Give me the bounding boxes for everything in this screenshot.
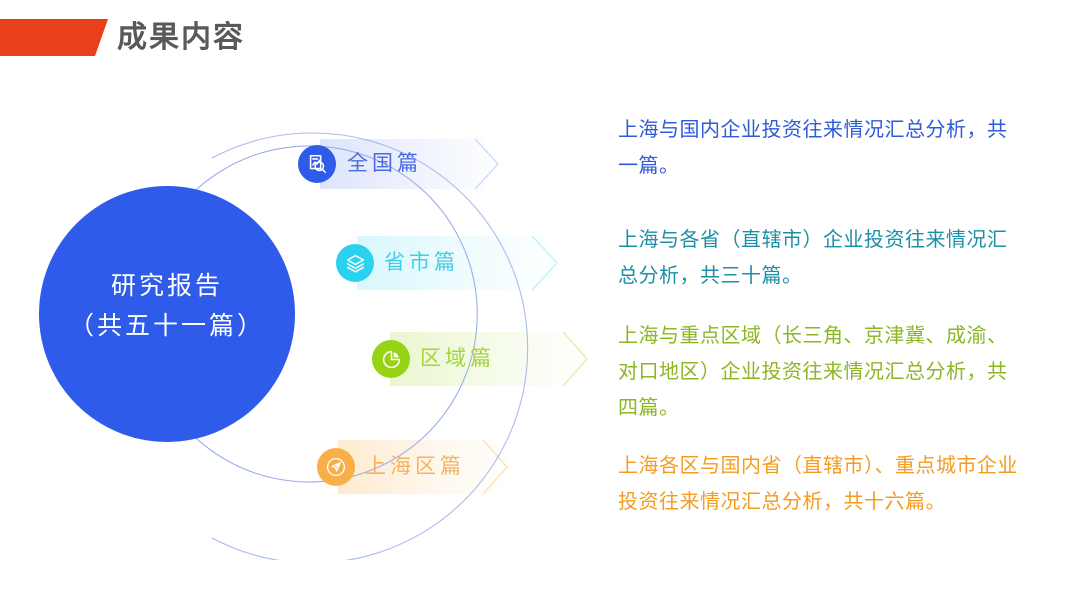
description-paragraph-shengshi: 上海与各省（直辖市）企业投资往来情况汇总分析，共三十篇。 <box>618 222 1018 294</box>
description-paragraph-quanguo: 上海与国内企业投资往来情况汇总分析，共一篇。 <box>618 112 1018 184</box>
description-paragraph-quyu: 上海与重点区域（长三角、京津冀、成渝、对口地区）企业投资往来情况汇总分析，共四篇… <box>618 318 1018 426</box>
banner-shapes <box>320 139 594 494</box>
pie-chart-glyph <box>381 349 402 370</box>
page-title: 成果内容 <box>117 17 245 59</box>
description-paragraph-shanghai: 上海各区与国内省（直辖市）、重点城市企业投资往来情况汇总分析，共十六篇。 <box>618 448 1018 520</box>
node-label-shanghai[interactable]: 上海区篇 <box>365 448 465 486</box>
report-search-icon[interactable] <box>298 145 336 183</box>
node-label-quanguo[interactable]: 全国篇 <box>347 145 422 183</box>
node-label-quyu[interactable]: 区域篇 <box>420 340 495 378</box>
center-circle <box>39 186 295 442</box>
pie-chart-icon[interactable] <box>372 340 410 378</box>
paper-plane-icon[interactable] <box>317 448 355 486</box>
report-structure-diagram: 研究报告 （共五十一篇） 全国篇 省市篇 区域篇 <box>20 70 620 560</box>
page-header: 成果内容 <box>0 0 1080 80</box>
paper-plane-glyph <box>324 455 348 479</box>
diagram-graphics <box>20 70 620 560</box>
description-list: 上海与国内企业投资往来情况汇总分析，共一篇。 上海与各省（直辖市）企业投资往来情… <box>618 112 1018 520</box>
node-label-shengshi[interactable]: 省市篇 <box>384 244 459 282</box>
layers-glyph <box>345 253 366 274</box>
layers-icon[interactable] <box>336 244 374 282</box>
report-search-glyph <box>306 153 328 175</box>
header-accent-shape <box>0 19 108 56</box>
